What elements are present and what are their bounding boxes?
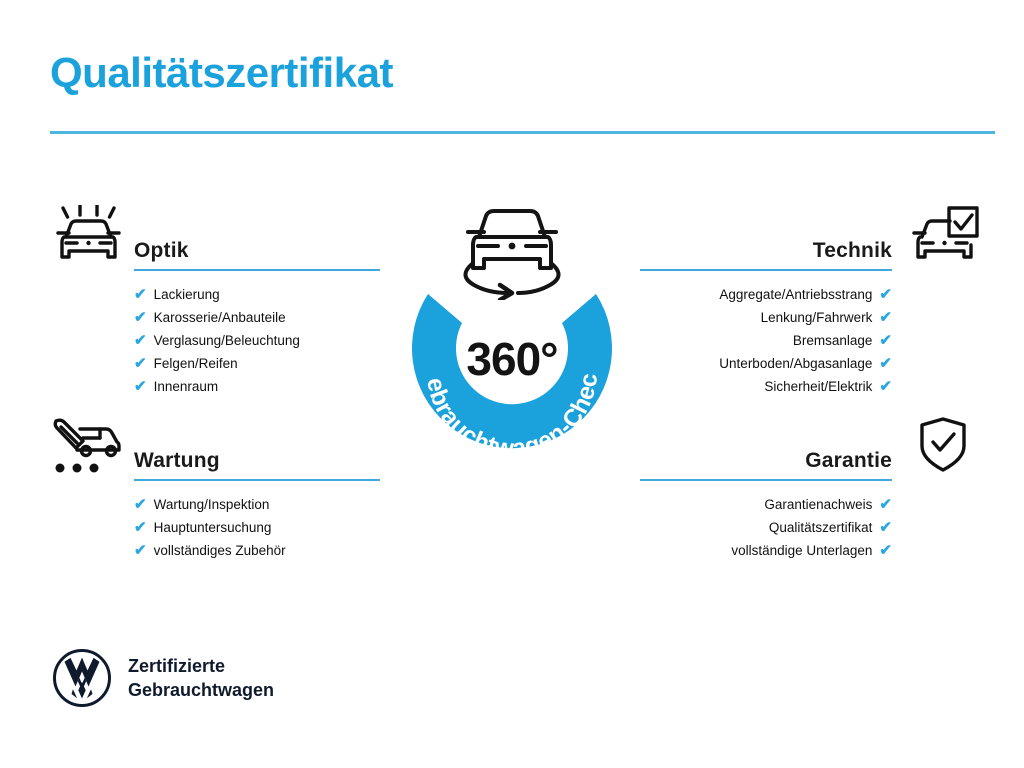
check-icon: ✔ — [879, 356, 892, 371]
list-item-label: Lackierung — [154, 283, 220, 306]
section-header: Optik — [50, 205, 380, 271]
badge-360-gebrauchtwagen-check: Gebrauchtwagen-Check 360° — [380, 196, 644, 486]
list-item: ✔ Verglasung/Beleuchtung — [134, 329, 380, 352]
check-icon: ✔ — [879, 287, 892, 302]
list-item: Aggregate/Antriebsstrang ✔ — [640, 283, 892, 306]
list-item-label: vollständige Unterlagen — [731, 539, 872, 562]
check-list-optik: ✔ Lackierung ✔ Karosserie/Anbauteile ✔ V… — [50, 271, 380, 398]
car-service-tool-icon — [50, 415, 124, 477]
section-title-wrap: Garantie — [640, 449, 892, 481]
check-icon: ✔ — [134, 497, 147, 512]
section-title-garantie: Garantie — [640, 449, 892, 479]
list-item-label: Sicherheit/Elektrik — [764, 375, 872, 398]
list-item-label: Aggregate/Antriebsstrang — [719, 283, 872, 306]
check-list-garantie: Garantienachweis ✔ Qualitätszertifikat ✔… — [640, 481, 980, 562]
list-item-label: Wartung/Inspektion — [154, 493, 270, 516]
list-item: Sicherheit/Elektrik ✔ — [640, 375, 892, 398]
page-title: Qualitätszertifikat — [50, 50, 393, 96]
vw-brand-line1: Zertifizierte — [128, 654, 274, 678]
list-item-label: Unterboden/Abgasanlage — [719, 352, 872, 375]
list-item-label: Hauptuntersuchung — [154, 516, 272, 539]
list-item: ✔ Wartung/Inspektion — [134, 493, 380, 516]
vw-brand-lockup: Zertifizierte Gebrauchtwagen — [52, 648, 274, 708]
list-item-label: Felgen/Reifen — [154, 352, 238, 375]
check-icon: ✔ — [134, 333, 147, 348]
car-front-shine-icon — [50, 205, 124, 267]
list-item: ✔ Hauptuntersuchung — [134, 516, 380, 539]
list-item-label: vollständiges Zubehör — [154, 539, 286, 562]
car-rotate-icon — [446, 196, 578, 300]
list-item: ✔ Innenraum — [134, 375, 380, 398]
section-title-wartung: Wartung — [134, 449, 380, 479]
section-rule — [134, 269, 380, 271]
section-title-technik: Technik — [640, 239, 892, 269]
check-icon: ✔ — [879, 379, 892, 394]
section-wartung: Wartung ✔ Wartung/Inspektion ✔ Hauptunte… — [50, 415, 380, 562]
list-item-label: Qualitätszertifikat — [769, 516, 873, 539]
section-title-wrap: Optik — [134, 239, 380, 271]
section-title-wrap: Technik — [640, 239, 892, 271]
section-title-optik: Optik — [134, 239, 380, 269]
list-item-label: Innenraum — [154, 375, 219, 398]
list-item: Lenkung/Fahrwerk ✔ — [640, 306, 892, 329]
check-icon: ✔ — [879, 543, 892, 558]
section-header: Garantie — [640, 415, 980, 481]
check-icon: ✔ — [879, 310, 892, 325]
check-icon: ✔ — [134, 356, 147, 371]
list-item: Qualitätszertifikat ✔ — [640, 516, 892, 539]
car-front-checkbox-icon — [906, 205, 980, 267]
list-item-label: Karosserie/Anbauteile — [154, 306, 286, 329]
section-header: Technik — [640, 205, 980, 271]
check-icon: ✔ — [134, 310, 147, 325]
section-rule — [640, 269, 892, 271]
section-header: Wartung — [50, 415, 380, 481]
check-icon: ✔ — [134, 287, 147, 302]
section-optik: Optik ✔ Lackierung ✔ Karosserie/Anbautei… — [50, 205, 380, 398]
list-item: Bremsanlage ✔ — [640, 329, 892, 352]
list-item: ✔ Felgen/Reifen — [134, 352, 380, 375]
list-item: ✔ Lackierung — [134, 283, 380, 306]
list-item-label: Verglasung/Beleuchtung — [154, 329, 300, 352]
title-divider — [50, 131, 995, 134]
section-rule — [640, 479, 892, 481]
shield-check-icon — [906, 415, 980, 477]
check-icon: ✔ — [134, 543, 147, 558]
badge-degrees-label: 360° — [380, 332, 644, 386]
check-icon: ✔ — [879, 333, 892, 348]
list-item: Unterboden/Abgasanlage ✔ — [640, 352, 892, 375]
vw-brand-text: Zertifizierte Gebrauchtwagen — [128, 654, 274, 702]
check-icon: ✔ — [879, 520, 892, 535]
section-rule — [134, 479, 380, 481]
list-item-label: Bremsanlage — [793, 329, 873, 352]
list-item: ✔ Karosserie/Anbauteile — [134, 306, 380, 329]
check-list-wartung: ✔ Wartung/Inspektion ✔ Hauptuntersuchung… — [50, 481, 380, 562]
check-list-technik: Aggregate/Antriebsstrang ✔ Lenkung/Fahrw… — [640, 271, 980, 398]
list-item-label: Garantienachweis — [764, 493, 872, 516]
list-item: Garantienachweis ✔ — [640, 493, 892, 516]
section-title-wrap: Wartung — [134, 449, 380, 481]
section-garantie: Garantie Garantienachweis ✔ Qualitätszer… — [640, 415, 980, 562]
check-icon: ✔ — [134, 379, 147, 394]
list-item: ✔ vollständiges Zubehör — [134, 539, 380, 562]
section-technik: Technik Aggregate/Antriebsstrang ✔ Lenku… — [640, 205, 980, 398]
list-item-label: Lenkung/Fahrwerk — [761, 306, 873, 329]
check-icon: ✔ — [879, 497, 892, 512]
vw-logo — [52, 648, 112, 708]
check-icon: ✔ — [134, 520, 147, 535]
vw-brand-line2: Gebrauchtwagen — [128, 678, 274, 702]
list-item: vollständige Unterlagen ✔ — [640, 539, 892, 562]
